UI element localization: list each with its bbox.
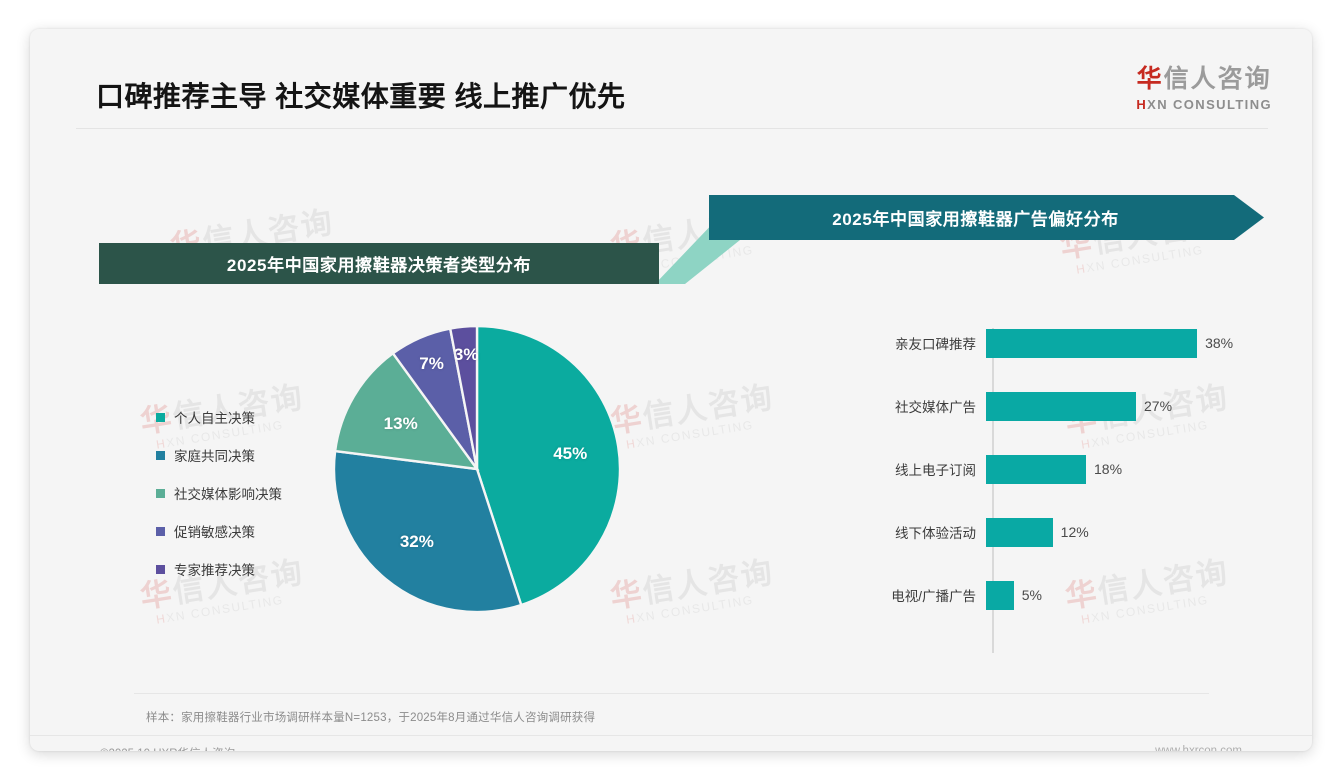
banner-right-label: 2025年中国家用擦鞋器广告偏好分布 [832,205,1119,230]
bar-track: 12% [986,517,1260,547]
footer-copyright: ©2025.10 HXR华信人咨询 [100,745,235,751]
legend-item[interactable]: 促销敏感决策 [156,521,282,541]
watermark-sub-highlight: H [1075,261,1087,276]
sample-note: 样本：家用擦鞋器行业市场调研样本量N=1253，于2025年8月通过华信人咨询调… [146,709,595,725]
legend-swatch [156,565,165,574]
pie-chart-panel: 个人自主决策家庭共同决策社交媒体影响决策促销敏感决策专家推荐决策 45%32%1… [99,319,659,659]
logo-sub-highlight: H [1136,97,1147,112]
chart-title-banner-left: 2025年中国家用擦鞋器决策者类型分布 [99,243,659,284]
logo-main-rest: 信人咨询 [1164,65,1272,93]
pie-legend: 个人自主决策家庭共同决策社交媒体影响决策促销敏感决策专家推荐决策 [156,407,282,597]
slide-card: 华信人咨询 HXN CONSULTING 华信人咨询 HXN CONSULTIN… [30,29,1312,751]
bar-category-label: 亲友口碑推荐 [820,333,986,353]
legend-item[interactable]: 专家推荐决策 [156,559,282,579]
legend-swatch [156,489,165,498]
legend-swatch [156,527,165,536]
bar-track: 27% [986,391,1260,421]
watermark-rest: 信人咨询 [640,554,776,609]
legend-swatch [156,413,165,422]
bar-chart-panel: 亲友口碑推荐38%社交媒体广告27%线上电子订阅18%线下体验活动12%电视/广… [820,314,1260,669]
legend-label: 社交媒体影响决策 [174,483,282,503]
pie-slice-label: 7% [419,354,444,374]
watermark-rest: 信人咨询 [640,379,776,434]
header-divider [76,128,1268,129]
pie-slice-label: 13% [384,414,418,434]
legend-swatch [156,451,165,460]
bar-value-label: 5% [1022,587,1042,603]
bar-value-label: 38% [1205,335,1233,351]
pie-slice-label: 32% [400,532,434,552]
bar-category-label: 线下体验活动 [820,522,986,542]
page-title: 口碑推荐主导 社交媒体重要 线上推广优先 [96,75,626,115]
bar-value-label: 27% [1144,398,1172,414]
footer-website: www.hxrcon.com [1155,745,1242,751]
legend-item[interactable]: 个人自主决策 [156,407,282,427]
pie-data-labels: 45%32%13%7%3% [332,324,622,614]
pie-slice-label: 3% [454,345,479,365]
legend-item[interactable]: 社交媒体影响决策 [156,483,282,503]
legend-label: 专家推荐决策 [174,559,255,579]
bar-chart-row[interactable]: 线上电子订阅18% [820,454,1260,484]
bar-category-label: 电视/广播广告 [820,585,986,605]
bar-category-label: 线上电子订阅 [820,459,986,479]
chart-title-banner-right: 2025年中国家用擦鞋器广告偏好分布 [709,195,1264,240]
bar-fill[interactable] [986,392,1136,421]
footer-divider [30,735,1312,736]
bar-track: 18% [986,454,1260,484]
brand-logo: 华信人咨询 HXN CONSULTING [1136,66,1272,112]
bar-chart-row[interactable]: 线下体验活动12% [820,517,1260,547]
bar-category-label: 社交媒体广告 [820,396,986,416]
bar-track: 38% [986,328,1260,358]
bar-fill[interactable] [986,455,1086,484]
bar-chart-row[interactable]: 电视/广播广告5% [820,580,1260,610]
pie-chart: 45%32%13%7%3% [332,324,622,614]
pie-slice-label: 45% [553,444,587,464]
logo-highlight-char: 华 [1137,65,1164,93]
bar-track: 5% [986,580,1260,610]
logo-sub-rest: XN CONSULTING [1147,97,1272,112]
bar-fill[interactable] [986,518,1053,547]
legend-item[interactable]: 家庭共同决策 [156,445,282,465]
bar-chart-row[interactable]: 亲友口碑推荐38% [820,328,1260,358]
legend-label: 促销敏感决策 [174,521,255,541]
bar-fill[interactable] [986,329,1197,358]
note-divider [134,693,1209,694]
bar-chart-row[interactable]: 社交媒体广告27% [820,391,1260,421]
banner-left-label: 2025年中国家用擦鞋器决策者类型分布 [227,251,531,276]
bar-fill[interactable] [986,581,1014,610]
watermark-sub-rest: XN CONSULTING [1085,243,1204,275]
legend-label: 家庭共同决策 [174,445,255,465]
bar-value-label: 12% [1061,524,1089,540]
legend-label: 个人自主决策 [174,407,255,427]
bar-value-label: 18% [1094,461,1122,477]
